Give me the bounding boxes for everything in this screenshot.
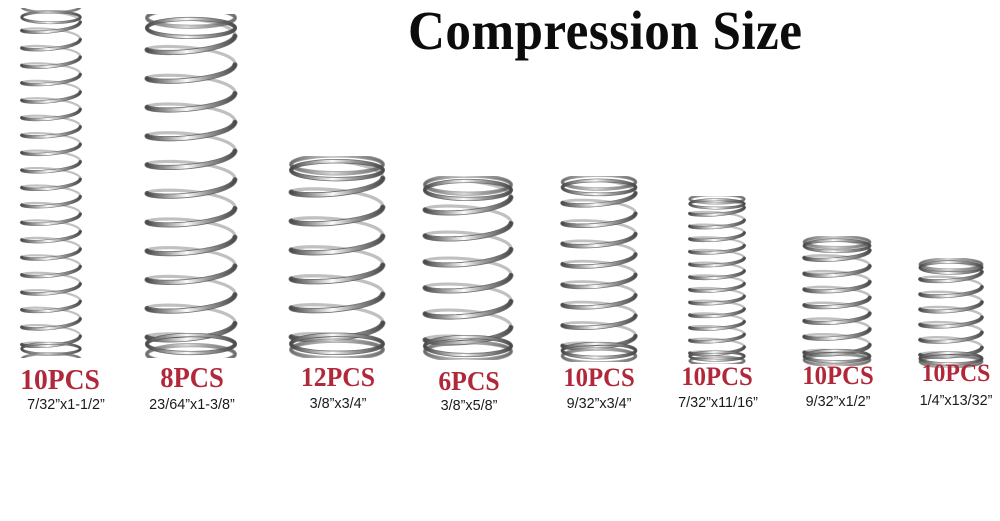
spring-quantity-label: 10PCS [905,360,1000,388]
spring-product-8: 10PCS1/4”x13/32” [0,0,1000,521]
product-image-canvas: Compression Size 10PCS7/32”x1-1/2”8PCS23… [0,0,1000,521]
spring-illustration [916,258,986,368]
spring-dimension-label: 1/4”x13/32” [900,392,1000,409]
